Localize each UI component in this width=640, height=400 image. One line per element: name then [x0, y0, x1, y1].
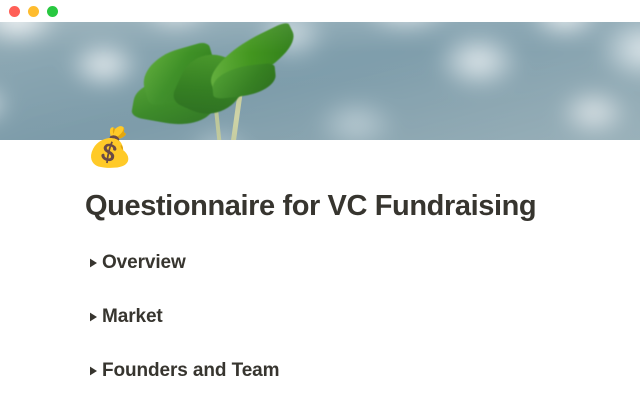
close-button[interactable]	[9, 6, 20, 17]
page-title[interactable]: Questionnaire for VC Fundraising	[85, 190, 536, 223]
toggle-label[interactable]: Founders and Team	[102, 360, 279, 382]
page-cover-image[interactable]	[0, 22, 640, 140]
chevron-right-icon[interactable]	[85, 363, 101, 379]
toggle-block-overview[interactable]: Overview	[85, 248, 565, 278]
toggle-label[interactable]: Overview	[102, 252, 186, 274]
window-controls	[9, 6, 58, 17]
page-content: 💰 Questionnaire for VC Fundraising Overv…	[0, 140, 640, 400]
maximize-button[interactable]	[47, 6, 58, 17]
cover-overlay	[0, 22, 640, 140]
toggle-label[interactable]: Market	[102, 306, 163, 328]
toggle-block-founders-and-team[interactable]: Founders and Team	[85, 356, 565, 386]
app-window: 💰 Questionnaire for VC Fundraising Overv…	[0, 0, 640, 400]
window-titlebar	[0, 0, 640, 22]
money-bag-emoji[interactable]: 💰	[86, 128, 133, 166]
chevron-right-icon[interactable]	[85, 309, 101, 325]
chevron-right-icon[interactable]	[85, 255, 101, 271]
toggle-block-market[interactable]: Market	[85, 302, 565, 332]
minimize-button[interactable]	[28, 6, 39, 17]
toggle-block-list: Overview Market Founders and Team	[85, 248, 565, 400]
